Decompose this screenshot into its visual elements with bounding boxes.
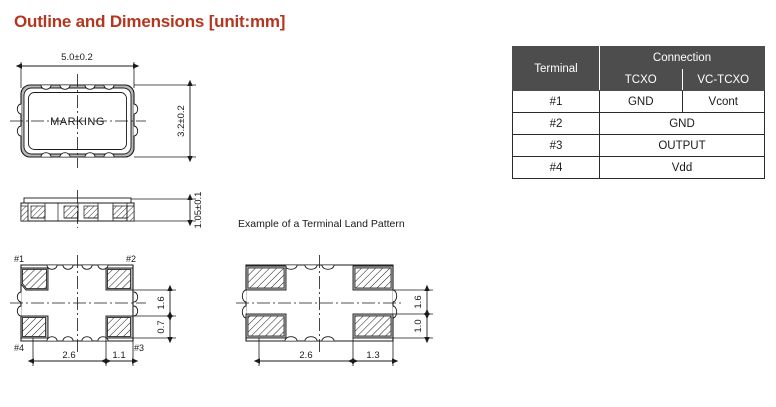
pad-3 <box>106 316 133 338</box>
dim-bottom-v1: 1.6 <box>156 296 167 309</box>
land-pattern-vertical-dimensions: 1.6 1.0 <box>393 290 433 338</box>
connection-table: Terminal Connection TCXO VC-TCXO #1 GND … <box>512 46 765 179</box>
dim-land-v1: 1.6 <box>413 295 424 308</box>
side-view-height-dimension: 1.05±0.1 <box>131 192 204 229</box>
land-pattern-horizontal-dimensions: 2.6 1.3 <box>259 338 393 366</box>
pin-label-4: #4 <box>14 343 24 353</box>
header-vc-tcxo: VC-TCXO <box>682 69 765 91</box>
pin-label-2: #2 <box>126 254 136 264</box>
land-pad-3 <box>353 314 393 338</box>
header-connection: Connection <box>600 47 765 69</box>
top-view: 5.0±0.2 MARKING <box>10 52 196 168</box>
cell-terminal: #3 <box>513 135 600 157</box>
pin-label-3: #3 <box>134 343 144 353</box>
pad-2 <box>106 268 133 290</box>
dim-land-h2: 1.3 <box>366 350 379 361</box>
cell-terminal: #2 <box>513 113 600 135</box>
cell-vc-tcxo: Vcont <box>682 91 765 113</box>
pad-4 <box>21 316 48 338</box>
land-pad-2 <box>353 266 393 290</box>
dim-land-h1: 2.6 <box>299 350 312 361</box>
land-pad-1 <box>246 266 286 290</box>
table-row: #2 GND <box>513 113 765 135</box>
header-tcxo: TCXO <box>600 69 683 91</box>
land-pad-4 <box>246 314 286 338</box>
table-row: #1 GND Vcont <box>513 91 765 113</box>
cell-connection-merged: Vdd <box>600 157 765 179</box>
bottom-view-vertical-dimensions: 1.6 0.7 <box>133 290 176 338</box>
cell-tcxo: GND <box>600 91 683 113</box>
dim-bottom-h1: 2.6 <box>62 350 75 361</box>
dim-top-height: 3.2±0.2 <box>176 105 187 137</box>
bottom-view: #1 #2 #3 #4 1.6 0.7 2.6 1.1 <box>10 254 176 366</box>
connection-table-head: Terminal Connection TCXO VC-TCXO <box>513 47 765 91</box>
cell-connection-merged: OUTPUT <box>600 135 765 157</box>
land-pattern-view: Example of a Terminal Land Pattern <box>236 218 433 366</box>
dim-side-height: 1.05±0.1 <box>193 192 204 229</box>
side-view: 1.05±0.1 <box>21 190 204 228</box>
table-row: #3 OUTPUT <box>513 135 765 157</box>
cell-terminal: #1 <box>513 91 600 113</box>
cell-terminal: #4 <box>513 157 600 179</box>
land-pattern-caption: Example of a Terminal Land Pattern <box>238 218 405 230</box>
dim-bottom-h2: 1.1 <box>112 350 125 361</box>
pin-label-1: #1 <box>14 254 24 264</box>
table-row: #4 Vdd <box>513 157 765 179</box>
pad-1 <box>21 268 48 290</box>
table-header-row-1: Terminal Connection <box>513 47 765 69</box>
bottom-view-horizontal-dimensions: 2.6 1.1 <box>33 338 133 366</box>
dim-top-width: 5.0±0.2 <box>61 52 93 63</box>
header-terminal: Terminal <box>513 47 600 91</box>
connection-table-body: #1 GND Vcont #2 GND #3 OUTPUT #4 Vdd <box>513 91 765 179</box>
cell-connection-merged: GND <box>600 113 765 135</box>
dim-land-v2: 1.0 <box>413 319 424 332</box>
dim-bottom-v2: 0.7 <box>156 320 167 333</box>
